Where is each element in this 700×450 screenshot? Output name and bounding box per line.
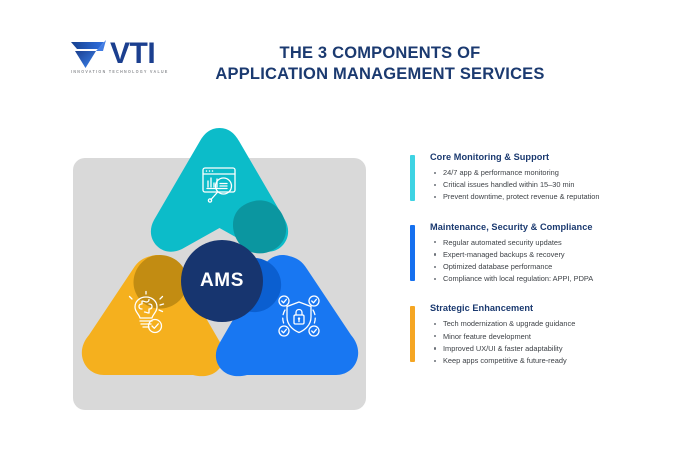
shield-lock-checks-icon — [276, 292, 322, 338]
section-maintenance-security: Maintenance, Security & Compliance Regul… — [410, 222, 660, 285]
section-core-monitoring: Core Monitoring & Support 24/7 app & per… — [410, 152, 660, 203]
list-item: 24/7 app & performance monitoring — [430, 167, 660, 178]
window-chart-magnifier-icon — [196, 162, 242, 208]
list-item: Prevent downtime, protect revenue & repu… — [430, 191, 660, 202]
list-item: Critical issues handled within 15–30 min — [430, 179, 660, 190]
section-accent-bar — [410, 155, 415, 201]
logo-tagline: INNOVATION TECHNOLOGY VALUE — [71, 69, 169, 74]
list-item: Minor feature development — [430, 331, 660, 342]
section-title: Strategic Enhancement — [430, 303, 660, 313]
list-item: Regular automated security updates — [430, 237, 660, 248]
ams-center-circle: AMS — [181, 240, 263, 322]
section-bullets: Tech modernization & upgrade guidance Mi… — [430, 318, 660, 366]
section-bullets: Regular automated security updates Exper… — [430, 237, 660, 285]
vti-chevron-logo-icon — [70, 40, 110, 70]
components-list: Core Monitoring & Support 24/7 app & per… — [410, 152, 660, 385]
section-title: Maintenance, Security & Compliance — [430, 222, 660, 232]
page-title-line-1: THE 3 COMPONENTS OF — [200, 43, 560, 64]
section-accent-bar — [410, 225, 415, 281]
ams-triangle-diagram: AMS — [73, 110, 366, 410]
section-title: Core Monitoring & Support — [430, 152, 660, 162]
page-title-line-2: APPLICATION MANAGEMENT SERVICES — [200, 64, 560, 85]
list-item: Keep apps competitive & future-ready — [430, 355, 660, 366]
list-item: Compliance with local regulation: APPI, … — [430, 273, 660, 284]
section-accent-bar — [410, 306, 415, 362]
section-bullets: 24/7 app & performance monitoring Critic… — [430, 167, 660, 203]
infographic-canvas: VTI INNOVATION TECHNOLOGY VALUE THE 3 CO… — [0, 0, 700, 450]
list-item: Expert-managed backups & recovery — [430, 249, 660, 260]
page-title: THE 3 COMPONENTS OF APPLICATION MANAGEME… — [200, 43, 560, 85]
puzzle-lightbulb-check-icon — [123, 290, 169, 336]
ams-center-label: AMS — [200, 270, 244, 292]
logo-wordmark: VTI — [110, 38, 155, 70]
section-strategic-enhancement: Strategic Enhancement Tech modernization… — [410, 303, 660, 366]
list-item: Improved UX/UI & faster adaptability — [430, 343, 660, 354]
list-item: Optimized database performance — [430, 261, 660, 272]
list-item: Tech modernization & upgrade guidance — [430, 318, 660, 329]
